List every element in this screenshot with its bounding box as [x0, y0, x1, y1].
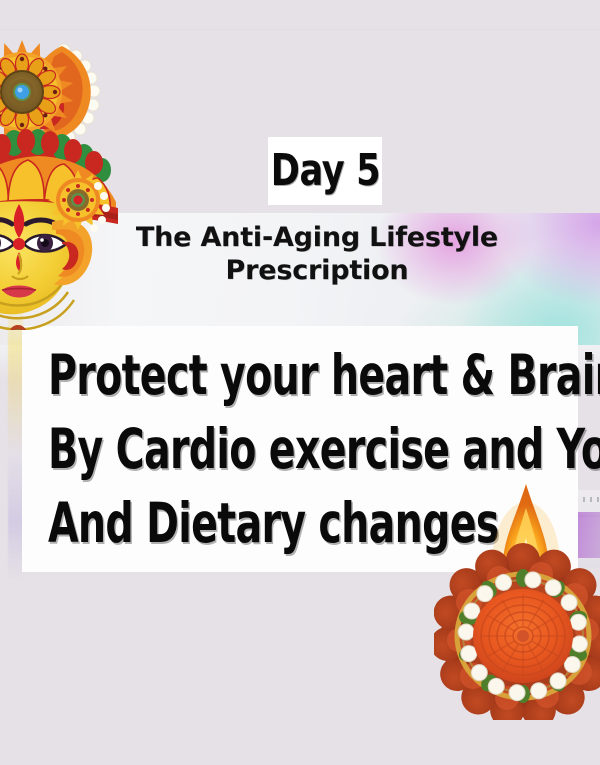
day-badge: Day 5	[268, 137, 382, 205]
headline-line-2: By Cardio exercise and Yoga	[48, 412, 445, 486]
day-badge-label: Day 5	[270, 149, 380, 193]
poster-canvas: Day 5 The Anti-Aging Lifestyle Prescript…	[0, 0, 600, 765]
headline-line-1: Protect your heart & Brain	[48, 338, 445, 412]
left-gradient-strip	[8, 300, 23, 578]
durga-goddess-face-icon	[0, 30, 176, 330]
diwali-diya-lamp-icon	[434, 468, 600, 720]
headline-line-3: And Dietary changes	[48, 486, 445, 560]
